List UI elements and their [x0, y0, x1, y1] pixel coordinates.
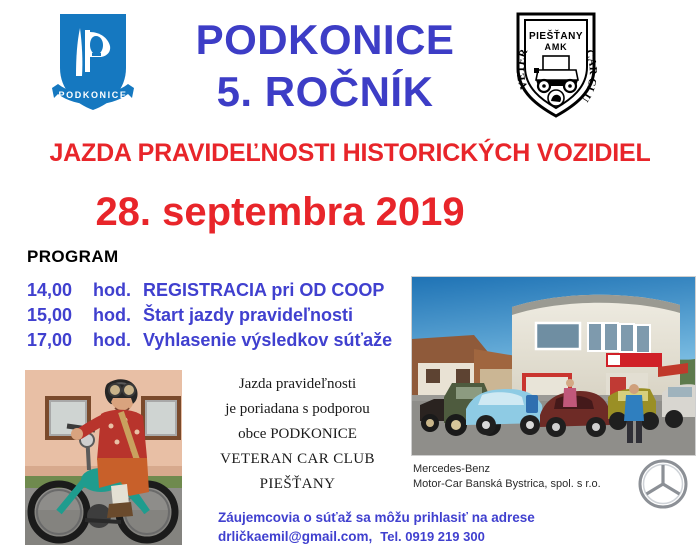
contact-instruction: Záujemcovia o súťaž sa môžu prihlasiť na…	[218, 508, 535, 527]
contact-phone[interactable]: Tel. 0919 219 300	[372, 527, 485, 546]
program-row: 17,00 hod. Vyhlasenie výsledkov súťaže	[27, 328, 417, 353]
event-poster: PODKONICE PODKONICE 5. ROČNÍK PIEŠŤANY A…	[0, 0, 700, 553]
club-logo-amk-label: AMK	[545, 42, 568, 52]
program-row: 14,00 hod. REGISTRACIA pri OD COOP	[27, 278, 417, 303]
organiser-line-2: je poriadana s podporou	[190, 397, 405, 422]
program-time-unit: hod.	[89, 278, 141, 303]
sponsor-name: Mercedes-Benz	[413, 462, 601, 477]
podkonice-coat-of-arms-icon: PODKONICE	[52, 10, 134, 118]
program-heading: PROGRAM	[27, 247, 119, 267]
sponsor-dealer: Motor-Car Banská Bystrica, spol. s r.o.	[413, 477, 601, 492]
organiser-statement: Jazda pravideľnosti je poriadana s podpo…	[190, 372, 405, 497]
crest-banner-label: PODKONICE	[59, 90, 128, 100]
coop-store-veteran-cars-photo	[411, 276, 696, 456]
program-time: 14,00	[27, 278, 89, 303]
program-time-unit: hod.	[89, 303, 141, 328]
program-row: 15,00 hod. Štart jazdy pravideľnosti	[27, 303, 417, 328]
organiser-line-5: PIEŠŤANY	[190, 472, 405, 497]
program-description: REGISTRACIA pri OD COOP	[141, 278, 384, 303]
page-title: PODKONICE 5. ROČNÍK	[165, 14, 485, 118]
event-subtitle: JAZDA PRAVIDEĽNOSTI HISTORICKÝCH VOZIDIE…	[0, 138, 700, 168]
program-time: 17,00	[27, 328, 89, 353]
organiser-line-3: obce PODKONICE	[190, 422, 405, 447]
veteran-car-club-logo-icon: PIEŠŤANY AMK	[496, 6, 616, 122]
mercedes-benz-star-icon	[637, 458, 689, 510]
organiser-line-1: Jazda pravideľnosti	[190, 372, 405, 397]
program-description: Vyhlasenie výsledkov súťaže	[141, 328, 392, 353]
program-time: 15,00	[27, 303, 89, 328]
sponsor-credit: Mercedes-Benz Motor-Car Banská Bystrica,…	[413, 462, 601, 492]
title-line-edition: 5. ROČNÍK	[165, 66, 485, 118]
contact-email[interactable]: drličkaemil@gmail.com,	[218, 527, 372, 546]
poster-header: PODKONICE PODKONICE 5. ROČNÍK PIEŠŤANY A…	[0, 0, 700, 128]
club-logo-city-label: PIEŠŤANY	[529, 29, 583, 42]
moped-rider-photo	[25, 370, 182, 545]
organiser-line-4: VETERAN CAR CLUB	[190, 447, 405, 472]
event-date: 28. septembra 2019	[0, 187, 560, 237]
contact-info: Záujemcovia o súťaž sa môžu prihlasiť na…	[218, 508, 535, 546]
program-time-unit: hod.	[89, 328, 141, 353]
program-description: Štart jazdy pravideľnosti	[141, 303, 353, 328]
program-schedule-list: 14,00 hod. REGISTRACIA pri OD COOP 15,00…	[27, 278, 417, 353]
title-line-village: PODKONICE	[165, 14, 485, 66]
